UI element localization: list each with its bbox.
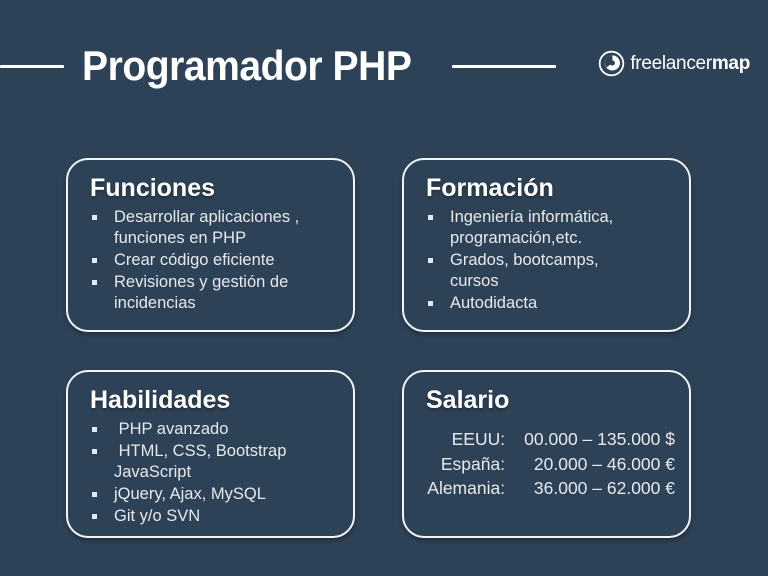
list-item-label: jQuery, Ajax, MySQL: [114, 484, 341, 505]
salary-country-label: España:: [422, 452, 515, 477]
square-bullet-icon: [428, 258, 433, 263]
freelancermap-circle-icon: [598, 50, 625, 77]
list-item: Ingeniería informática, programación,etc…: [428, 207, 677, 249]
list-item-label: Grados, bootcamps, cursos: [450, 250, 677, 292]
list-item: Autodidacta: [428, 293, 677, 314]
card-title-funciones: Funciones: [90, 174, 353, 203]
list-item: PHP avanzado: [92, 419, 341, 440]
list-item: Revisiones y gestión de incidencias: [92, 272, 341, 314]
list-item: Crear código eficiente: [92, 250, 341, 271]
brand-wordmark: freelancermap: [630, 54, 750, 73]
title-rule-right: [452, 65, 556, 68]
square-bullet-icon: [92, 514, 97, 519]
salary-range-value: 20.000 – 46.000 €: [515, 452, 675, 477]
table-row: EEUU: 00.000 – 135.000 $: [422, 427, 675, 452]
list-item-label: Ingeniería informática, programación,etc…: [450, 207, 677, 249]
list-item: Git y/o SVN: [92, 506, 341, 527]
list-item: jQuery, Ajax, MySQL: [92, 484, 341, 505]
square-bullet-icon: [428, 215, 433, 220]
square-bullet-icon: [92, 280, 97, 285]
square-bullet-icon: [428, 301, 433, 306]
salary-range-value: 00.000 – 135.000 $: [515, 427, 675, 452]
salary-country-label: Alemania:: [422, 476, 515, 501]
bullet-list-funciones: Desarrollar aplicaciones , funciones en …: [68, 207, 353, 315]
title-rule-left: [0, 65, 64, 68]
list-item-label: Git y/o SVN: [114, 506, 341, 527]
brand-logo: freelancermap: [598, 50, 750, 77]
bullet-list-habilidades: PHP avanzado HTML, CSS, Bootstrap JavaSc…: [68, 419, 353, 528]
card-title-salario: Salario: [426, 386, 689, 415]
bullet-list-formacion: Ingeniería informática, programación,etc…: [404, 207, 689, 315]
square-bullet-icon: [92, 449, 97, 454]
square-bullet-icon: [92, 215, 97, 220]
list-item: Desarrollar aplicaciones , funciones en …: [92, 207, 341, 249]
table-row: España: 20.000 – 46.000 €: [422, 452, 675, 477]
card-formacion: Formación Ingeniería informática, progra…: [402, 158, 691, 332]
square-bullet-icon: [92, 492, 97, 497]
salary-country-label: EEUU:: [422, 427, 515, 452]
list-item-label: HTML, CSS, Bootstrap JavaScript: [114, 441, 341, 483]
card-title-habilidades: Habilidades: [90, 386, 353, 415]
card-funciones: Funciones Desarrollar aplicaciones , fun…: [66, 158, 355, 332]
card-salario: Salario EEUU: 00.000 – 135.000 $ España:…: [402, 370, 691, 538]
list-item: HTML, CSS, Bootstrap JavaScript: [92, 441, 341, 483]
brand-name-light: freelancer: [630, 53, 712, 74]
list-item-label: Crear código eficiente: [114, 250, 341, 271]
list-item: Grados, bootcamps, cursos: [428, 250, 677, 292]
list-item-label: Autodidacta: [450, 293, 677, 314]
page-title: Programador PHP: [82, 45, 411, 87]
infographic-page: { "page": { "background_color": "#2e4257…: [0, 0, 768, 576]
card-habilidades: Habilidades PHP avanzado HTML, CSS, Boot…: [66, 370, 355, 538]
square-bullet-icon: [92, 427, 97, 432]
salary-range-value: 36.000 – 62.000 €: [515, 476, 675, 501]
list-item-label: Revisiones y gestión de incidencias: [114, 272, 341, 314]
table-row: Alemania: 36.000 – 62.000 €: [422, 476, 675, 501]
brand-name-bold: map: [712, 53, 750, 74]
list-item-label: Desarrollar aplicaciones , funciones en …: [114, 207, 341, 249]
salary-table: EEUU: 00.000 – 135.000 $ España: 20.000 …: [422, 427, 675, 502]
list-item-label: PHP avanzado: [114, 419, 341, 440]
card-title-formacion: Formación: [426, 174, 689, 203]
square-bullet-icon: [92, 258, 97, 263]
